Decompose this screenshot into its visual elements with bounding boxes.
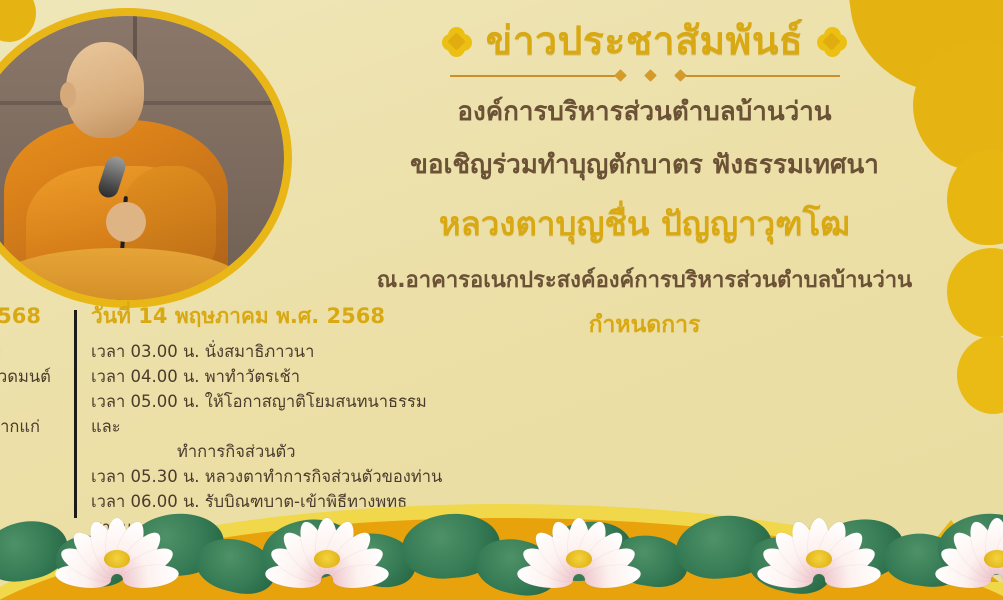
lotus-flower [530,506,626,582]
day1-heading: วันที่ 13 พฤษภาคม พ.ศ. 2568 [0,300,66,333]
organization-name: องค์การบริหารส่วนตำบลบ้านว่าน [286,91,1003,132]
list-item: เวลา 19.30 น. หลวงตาจะให้ธรรมดอวากแก่ญาต… [0,414,66,464]
list-item-continuation: ทำการกิจส่วนตัว [91,439,447,464]
ornamental-divider [440,69,850,83]
list-item: เวลา 04.00 น. พาทำวัตรเช้า [91,364,447,389]
lotus-seed-pod [314,550,340,568]
lotus-flower [770,506,866,582]
list-item-continuation-text: ทำการกิจส่วนตัว [91,439,447,464]
poster-canvas: ข่าวประชาสัมพันธ์ องค์การบริหารส่วนตำบลบ… [0,0,1003,600]
lotus-seed-pod [566,550,592,568]
day2-heading: วันที่ 14 พฤษภาคม พ.ศ. 2568 [91,300,447,333]
page-title: ข่าวประชาสัมพันธ์ [486,22,804,63]
list-item: เวลา 18.00 น. สมาทานศีล 5 ทำวัตรสวดมนต์เ… [0,364,66,414]
list-item: เวลา 16.00 น. หลวงตามาถึงลานธรรม [0,339,66,364]
lotus-seed-pod [806,550,832,568]
lotus-flower [68,506,164,582]
lotus-flower [278,506,374,582]
quatrefoil-left-icon [442,27,472,57]
lotus-flower [948,506,1003,582]
list-item: เวลา 03.00 น. นั่งสมาธิภาวนา [91,339,447,364]
quatrefoil-right-icon [817,27,847,57]
lotus-decoration-row [0,470,1003,600]
day1-item-list: เวลา 16.00 น. หลวงตามาถึงลานธรรม เวลา 18… [0,339,66,489]
monk-name: หลวงตาบุญชื่น ปัญญาวุฑโฒ [286,197,1003,250]
venue-text: ณ.อาคารอเนกประสงค์องค์การบริหารส่วนตำบลบ… [286,262,1003,297]
lotus-seed-pod [984,550,1003,568]
lotus-seed-pod [104,550,130,568]
title-row: ข่าวประชาสัมพันธ์ [286,22,1003,63]
list-item: เวลา 05.00 น. ให้โอกาสญาติโยมสนทนาธรรมแล… [91,389,447,439]
invitation-text: ขอเชิญร่วมทำบุญตักบาตร ฟังธรรมเทศนา [286,144,1003,185]
